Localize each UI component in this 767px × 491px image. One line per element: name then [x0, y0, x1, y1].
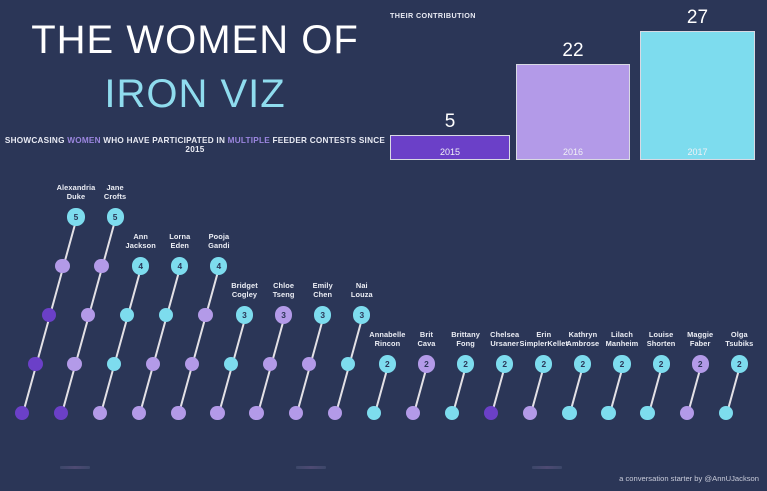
person-stem-line	[100, 266, 142, 413]
bar-column-2016[interactable]: 201622	[516, 0, 630, 160]
page-title-line1: THE WOMEN OF	[0, 20, 390, 60]
person-dot[interactable]	[341, 357, 355, 371]
person-dot[interactable]	[406, 406, 420, 420]
person-name-label: NaiLouza	[327, 281, 397, 300]
person-dot[interactable]	[54, 406, 68, 420]
bar-value-2016: 22	[516, 40, 630, 62]
person-last-name: Gandi	[184, 241, 254, 250]
person-count-badge[interactable]: 2	[457, 355, 474, 372]
person-dot[interactable]	[680, 406, 694, 420]
subtitle-part1: SHOWCASING	[5, 136, 67, 145]
bar-year-label-2016: 2016	[517, 147, 629, 157]
person-dot[interactable]	[93, 406, 107, 420]
person-dot[interactable]	[484, 406, 498, 420]
page-subtitle: SHOWCASING WOMEN WHO HAVE PARTICIPATED I…	[0, 136, 390, 154]
person-dot[interactable]	[185, 357, 199, 371]
person-first-name: Jane	[80, 183, 150, 192]
bar-value-2017: 27	[640, 7, 755, 29]
person-count-badge[interactable]: 2	[379, 355, 396, 372]
person-count-badge[interactable]: 3	[275, 306, 292, 323]
person-dot[interactable]	[159, 308, 173, 322]
person-count-badge[interactable]: 5	[67, 208, 84, 225]
person-first-name: Pooja	[184, 232, 254, 241]
subtitle-highlight-multiple: MULTIPLE	[228, 136, 270, 145]
person-dot[interactable]	[28, 357, 42, 371]
subtitle-part2: WHO HAVE PARTICIPATED IN	[101, 136, 228, 145]
person-count-badge[interactable]: 5	[107, 208, 124, 225]
bar-year-label-2015: 2015	[391, 147, 509, 157]
person-dot[interactable]	[67, 357, 81, 371]
person-dot[interactable]	[132, 406, 146, 420]
person-count-badge[interactable]: 3	[236, 306, 253, 323]
person-stem-line	[139, 266, 181, 413]
person-dot[interactable]	[55, 259, 69, 273]
person-dot[interactable]	[42, 308, 56, 322]
person-dot[interactable]	[94, 259, 108, 273]
bar-rect-2016: 2016	[516, 64, 630, 160]
person-count-badge[interactable]: 2	[613, 355, 630, 372]
person-count-badge[interactable]: 4	[171, 257, 188, 274]
person-last-name: Louza	[327, 290, 397, 299]
credit-text: a conversation starter by @AnnUJackson	[619, 474, 759, 483]
person-dot[interactable]	[302, 357, 316, 371]
person-first-name: Olga	[704, 330, 767, 339]
person-name-label: OlgaTsubiks	[704, 330, 767, 349]
infographic-canvas: THE WOMEN OF IRON VIZ SHOWCASING WOMEN W…	[0, 0, 767, 491]
person-count-badge[interactable]: 2	[496, 355, 513, 372]
person-dot[interactable]	[15, 406, 29, 420]
page-title-line2: IRON VIZ	[0, 74, 390, 114]
bar-column-2017[interactable]: 201727	[640, 0, 755, 160]
axis-tick-mark	[60, 466, 90, 469]
person-dot[interactable]	[146, 357, 160, 371]
bar-column-2015[interactable]: 20155	[390, 0, 510, 160]
axis-tick-mark	[532, 466, 562, 469]
person-count-badge[interactable]: 2	[418, 355, 435, 372]
person-first-name: Nai	[327, 281, 397, 290]
person-dot[interactable]	[107, 357, 121, 371]
person-count-badge[interactable]: 4	[132, 257, 149, 274]
axis-tick-mark	[296, 466, 326, 469]
person-dot[interactable]	[601, 406, 615, 420]
people-lollipop-chart: AlexandriaDuke5JaneCrofts5AnnJackson4Lor…	[0, 160, 767, 440]
person-last-name: Crofts	[80, 192, 150, 201]
person-count-badge[interactable]: 2	[731, 355, 748, 372]
person-count-badge[interactable]: 2	[692, 355, 709, 372]
person-dot[interactable]	[367, 406, 381, 420]
person-dot[interactable]	[249, 406, 263, 420]
subtitle-highlight-women: WOMEN	[67, 136, 101, 145]
person-dot[interactable]	[171, 406, 185, 420]
person-dot[interactable]	[224, 357, 238, 371]
person-dot[interactable]	[719, 406, 733, 420]
bar-year-label-2017: 2017	[641, 147, 754, 157]
person-dot[interactable]	[81, 308, 95, 322]
person-dot[interactable]	[523, 406, 537, 420]
bar-rect-2017: 2017	[640, 31, 755, 160]
person-dot[interactable]	[445, 406, 459, 420]
bar-value-2015: 5	[390, 111, 510, 133]
person-count-badge[interactable]: 2	[574, 355, 591, 372]
person-count-badge[interactable]: 2	[653, 355, 670, 372]
person-dot[interactable]	[562, 406, 576, 420]
bar-rect-2015: 2015	[390, 135, 510, 160]
person-last-name: Tsubiks	[704, 339, 767, 348]
person-count-badge[interactable]: 4	[210, 257, 227, 274]
person-name-label: PoojaGandi	[184, 232, 254, 251]
person-dot[interactable]	[210, 406, 224, 420]
person-dot[interactable]	[640, 406, 654, 420]
person-dot[interactable]	[328, 406, 342, 420]
person-count-badge[interactable]: 2	[535, 355, 552, 372]
person-dot[interactable]	[198, 308, 212, 322]
person-name-label: JaneCrofts	[80, 183, 150, 202]
person-count-badge[interactable]: 3	[314, 306, 331, 323]
person-count-badge[interactable]: 3	[353, 306, 370, 323]
person-dot[interactable]	[289, 406, 303, 420]
person-dot[interactable]	[263, 357, 277, 371]
person-dot[interactable]	[120, 308, 134, 322]
